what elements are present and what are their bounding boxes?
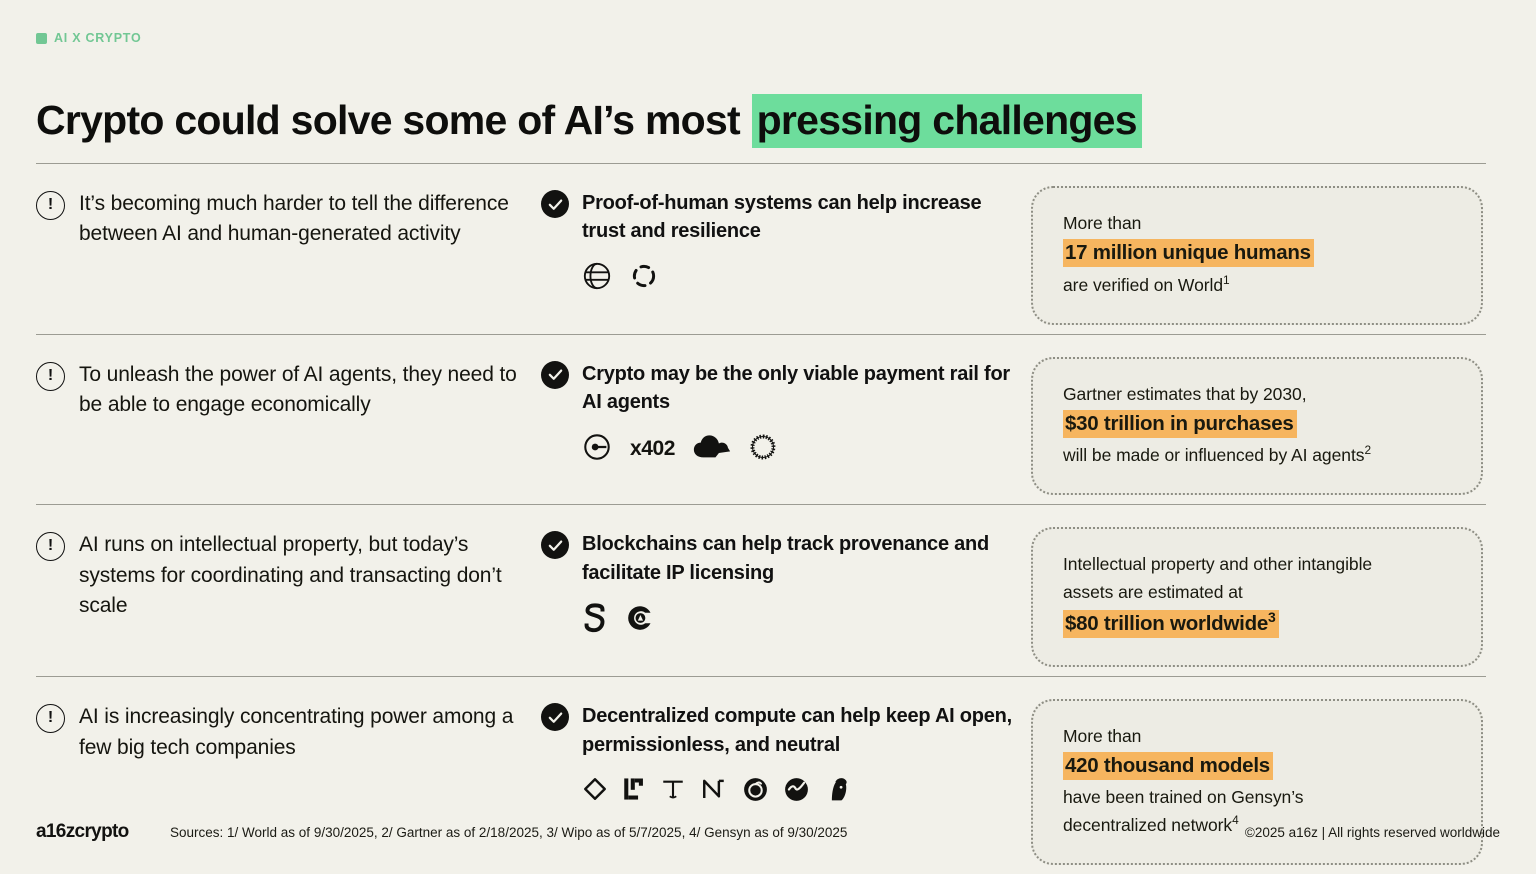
solution-block: Blockchains can help track provenance an…	[582, 530, 1012, 637]
solution-cell: Crypto may be the only viable payment ra…	[541, 357, 1031, 467]
problem-cell: ! To unleash the power of AI agents, the…	[36, 357, 541, 421]
solution-cell: Proof-of-human systems can help increase…	[541, 186, 1031, 296]
page-title: Crypto could solve some of AI’s most pre…	[36, 98, 1142, 144]
solution-text: Blockchains can help track provenance an…	[582, 530, 1012, 587]
stat-line-2: assets are estimated at	[1063, 579, 1451, 606]
check-icon	[541, 703, 569, 731]
diamond-outline-logo	[582, 776, 608, 807]
problem-cell: ! It’s becoming much harder to tell the …	[36, 186, 541, 250]
solution-block: Proof-of-human systems can help increase…	[582, 189, 1012, 296]
problem-cell: ! AI is increasingly concentrating power…	[36, 699, 541, 763]
bittensor-face-logo	[824, 775, 852, 808]
check-icon	[541, 190, 569, 218]
solution-cell: Blockchains can help track provenance an…	[541, 527, 1031, 637]
eyebrow-badge: AI X CRYPTO	[36, 31, 141, 45]
x402-wordmark: x402	[630, 437, 675, 461]
headline-highlight: pressing challenges	[752, 94, 1142, 148]
solution-text: Crypto may be the only viable payment ra…	[582, 360, 1012, 417]
dashed-circle-logo	[630, 262, 658, 295]
stat-cell: Intellectual property and other intangib…	[1031, 527, 1486, 667]
table-row: ! To unleash the power of AI agents, the…	[36, 334, 1486, 505]
flux-bracket-logo	[622, 776, 646, 807]
story-s-logo	[582, 603, 608, 638]
stat-footnote: 2	[1364, 443, 1371, 457]
headline-plain: Crypto could solve some of AI’s most	[36, 97, 751, 143]
problem-text: AI is increasingly concentrating power a…	[79, 702, 529, 763]
camp-c-logo	[626, 604, 654, 637]
cloudflare-cloud-logo	[693, 434, 731, 465]
stat-highlight: 420 thousand models	[1063, 752, 1451, 780]
world-globe-logo	[582, 261, 612, 296]
check-icon	[541, 531, 569, 559]
stat-line-3: are verified on World1	[1063, 271, 1451, 299]
tau-t-logo	[660, 776, 686, 807]
partner-logo-strip: x402	[582, 432, 1012, 466]
orbit-ring-logo	[742, 776, 769, 808]
stat-highlight-text: $80 trillion worldwide3	[1063, 610, 1279, 638]
stat-line-3: have been trained on Gensyn’s	[1063, 784, 1451, 811]
eyebrow-swatch-icon	[36, 33, 47, 44]
warning-icon: !	[36, 704, 65, 733]
stat-card: Gartner estimates that by 2030, $30 tril…	[1031, 357, 1483, 496]
stat-highlight-text: $30 trillion in purchases	[1063, 410, 1297, 438]
solution-block: Decentralized compute can help keep AI o…	[582, 702, 1012, 809]
stat-line-3-text: are verified on World	[1063, 274, 1223, 294]
stat-cell: More than 17 million unique humans are v…	[1031, 186, 1486, 325]
solution-block: Crypto may be the only viable payment ra…	[582, 360, 1012, 467]
table-row: ! AI runs on intellectual property, but …	[36, 504, 1486, 676]
stat-line-3: will be made or influenced by AI agents2	[1063, 441, 1451, 469]
problem-text: It’s becoming much harder to tell the di…	[79, 189, 529, 250]
page-footer: a16zcrypto Sources: 1/ World as of 9/30/…	[36, 818, 1500, 846]
partner-logo-strip	[582, 603, 1012, 637]
sunburst-radial-logo	[749, 433, 777, 466]
stat-highlight-text: 17 million unique humans	[1063, 239, 1314, 267]
stat-cell: Gartner estimates that by 2030, $30 tril…	[1031, 357, 1486, 496]
content-grid: ! It’s becoming much harder to tell the …	[36, 163, 1486, 874]
solution-text: Decentralized compute can help keep AI o…	[582, 702, 1012, 759]
stat-highlight-label: $80 trillion worldwide	[1065, 612, 1268, 635]
warning-icon: !	[36, 191, 65, 220]
stat-footnote: 3	[1268, 609, 1276, 625]
check-icon	[541, 361, 569, 389]
stat-footnote: 1	[1223, 273, 1230, 287]
table-row: ! It’s becoming much harder to tell the …	[36, 163, 1486, 334]
solution-cell: Decentralized compute can help keep AI o…	[541, 699, 1031, 809]
a16zcrypto-logo: a16zcrypto	[36, 821, 170, 843]
partner-logo-strip	[582, 775, 1012, 809]
coinbase-circle-dot-logo	[582, 432, 612, 467]
warning-icon: !	[36, 362, 65, 391]
problem-text: To unleash the power of AI agents, they …	[79, 360, 529, 421]
problem-text: AI runs on intellectual property, but to…	[79, 530, 529, 621]
sources-note: Sources: 1/ World as of 9/30/2025, 2/ Ga…	[170, 825, 1245, 840]
partner-logo-strip	[582, 262, 1012, 296]
stat-line-3-text: will be made or influenced by AI agents	[1063, 445, 1364, 465]
stat-highlight-text: 420 thousand models	[1063, 752, 1273, 780]
warning-icon: !	[36, 532, 65, 561]
solution-text: Proof-of-human systems can help increase…	[582, 189, 1012, 246]
stat-highlight: $80 trillion worldwide3	[1063, 608, 1451, 638]
copyright-note: ©2025 a16z | All rights reserved worldwi…	[1245, 825, 1500, 840]
stat-line-1: Gartner estimates that by 2030,	[1063, 381, 1451, 408]
stat-line-1: More than	[1063, 210, 1451, 237]
stat-card: More than 17 million unique humans are v…	[1031, 186, 1483, 325]
stat-line-1: More than	[1063, 723, 1451, 750]
stat-line-1: Intellectual property and other intangib…	[1063, 551, 1451, 578]
eyebrow-label: AI X CRYPTO	[54, 31, 141, 45]
stat-highlight: 17 million unique humans	[1063, 239, 1451, 267]
check-swoosh-logo	[783, 776, 810, 808]
stat-card: Intellectual property and other intangib…	[1031, 527, 1483, 667]
problem-cell: ! AI runs on intellectual property, but …	[36, 527, 541, 621]
stat-highlight: $30 trillion in purchases	[1063, 410, 1451, 438]
nous-n-logo	[700, 776, 728, 807]
